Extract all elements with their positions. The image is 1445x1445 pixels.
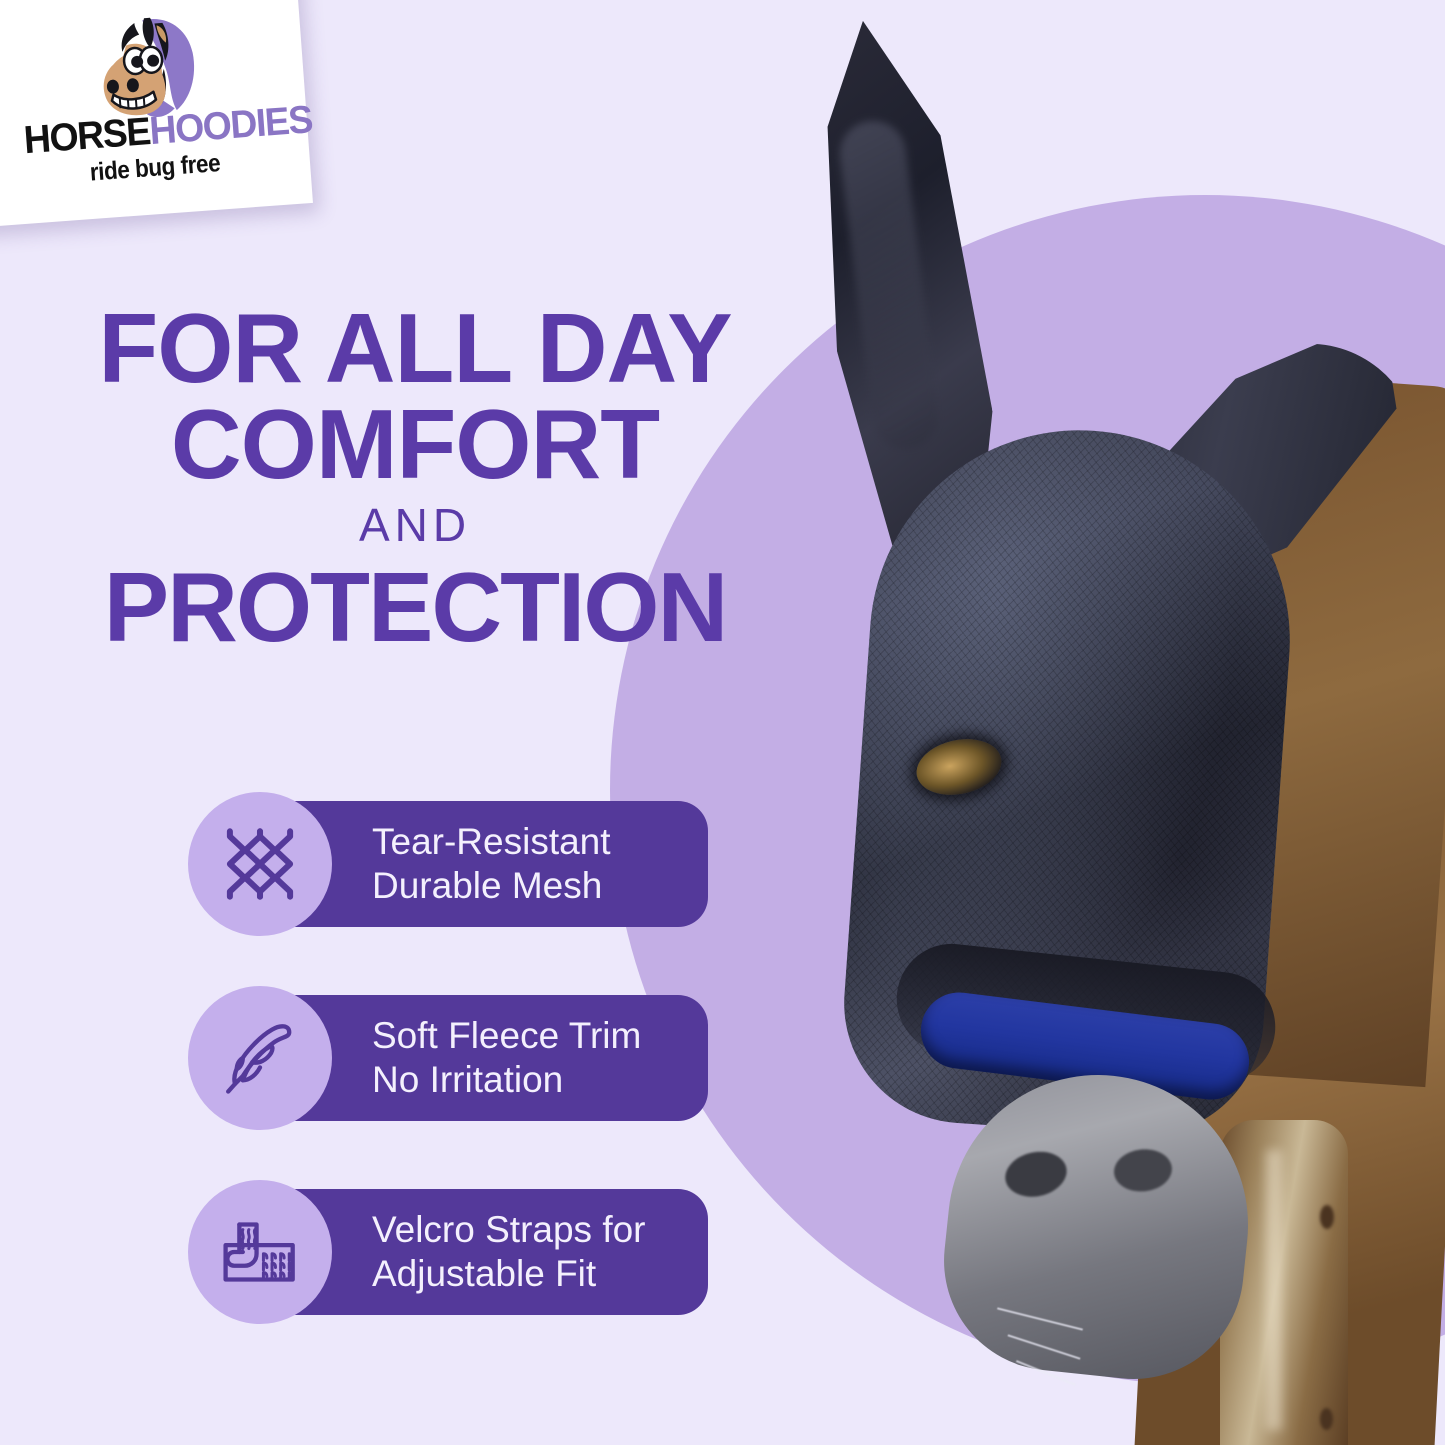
headline-line-3: PROTECTION [0, 559, 830, 655]
velcro-strap-icon [188, 1180, 332, 1324]
feature-label: Velcro Straps for Adjustable Fit [372, 1208, 646, 1295]
mesh-grid-icon [188, 792, 332, 936]
donkey-leg-marking [1320, 1205, 1334, 1229]
donkey-illustration [800, 0, 1445, 1445]
headline-line-1: FOR ALL DAY [0, 300, 830, 396]
feather-icon [188, 986, 332, 1130]
feature-label: Tear-Resistant Durable Mesh [372, 820, 611, 907]
headline-connector: AND [0, 492, 830, 559]
feature-label: Soft Fleece Trim No Irritation [372, 1014, 641, 1101]
donkey-leg-marking [1320, 1408, 1333, 1430]
product-photo [800, 0, 1445, 1445]
ad-canvas: HORSEHOODIES ride bug free FOR ALL DAY C… [0, 0, 1445, 1445]
logo-content: HORSEHOODIES ride bug free [0, 0, 307, 211]
headline-line-2: COMFORT [0, 396, 830, 492]
headline-block: FOR ALL DAY COMFORT AND PROTECTION [0, 300, 830, 655]
